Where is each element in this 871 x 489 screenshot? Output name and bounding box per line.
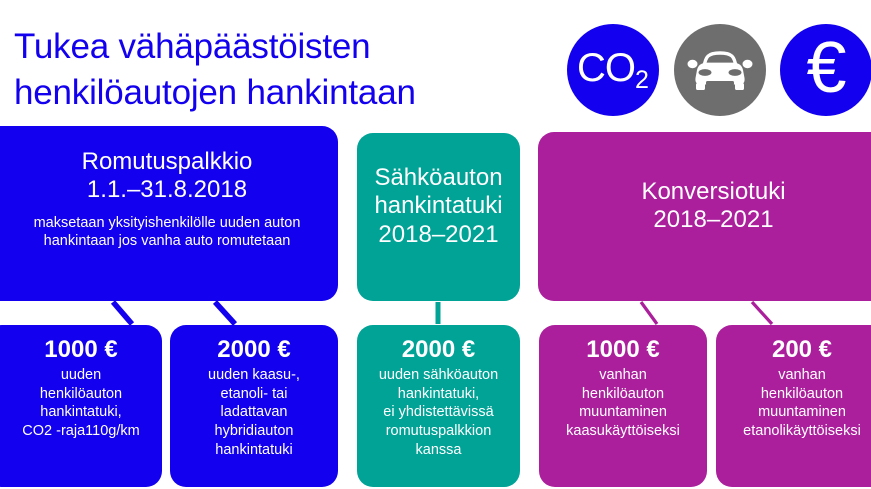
co2-icon-text: CO: [577, 46, 635, 90]
connector-konversio-to-1000: [641, 302, 657, 324]
program-card-romutuspalkkio[interactable]: Romutuspalkkio 1.1.–31.8.2018 maksetaan …: [0, 126, 338, 301]
benefit-detail: uuden kaasu-, etanoli- tai ladattavan hy…: [208, 366, 300, 459]
euro-icon: €: [780, 24, 871, 116]
program-card-konversiotuki[interactable]: Konversiotuki 2018–2021: [538, 132, 871, 301]
connector-romutus-to-1000: [113, 302, 132, 324]
benefit-detail: vanhan henkilöauton muuntaminen etanolik…: [743, 366, 861, 440]
program-headline: Konversiotuki 2018–2021: [641, 178, 785, 235]
infographic-canvas: Tukea vähäpäästöisten henkilöautojen han…: [0, 0, 871, 489]
co2-icon-label: CO2: [577, 48, 649, 93]
program-headline: Romutuspalkkio 1.1.–31.8.2018: [82, 148, 253, 205]
benefit-amount: 2000 €: [217, 337, 290, 363]
co2-icon: CO2: [567, 24, 659, 116]
benefit-amount: 1000 €: [586, 337, 659, 363]
euro-icon-label: €: [806, 32, 845, 104]
connector-romutus-to-2000: [215, 302, 235, 324]
benefit-card-2000-kaasu-etanoli-hybridi[interactable]: 2000 € uuden kaasu-, etanoli- tai ladatt…: [170, 325, 338, 487]
connector-konversio-to-200: [752, 302, 772, 324]
benefit-card-200-etanolikayttoiseksi[interactable]: 200 € vanhan henkilöauton muuntaminen et…: [716, 325, 871, 487]
program-card-sahkoauton-hankintatuki[interactable]: Sähköauton hankintatuki 2018–2021: [357, 133, 520, 301]
benefit-card-2000-sahkoauto[interactable]: 2000 € uuden sähköauton hankintatuki, ei…: [357, 325, 520, 487]
benefit-amount: 2000 €: [402, 337, 475, 363]
program-subtext: maksetaan yksityishenkilölle uuden auton…: [34, 214, 301, 252]
benefit-detail: vanhan henkilöauton muuntaminen kaasukäy…: [566, 366, 680, 440]
car-icon: [674, 24, 766, 116]
program-headline: Sähköauton hankintatuki 2018–2021: [374, 164, 502, 249]
benefit-card-1000-kaasukayttoiseksi[interactable]: 1000 € vanhan henkilöauton muuntaminen k…: [539, 325, 707, 487]
benefit-detail: uuden sähköauton hankintatuki, ei yhdist…: [379, 366, 498, 459]
co2-icon-subscript: 2: [635, 66, 649, 94]
page-title: Tukea vähäpäästöisten henkilöautojen han…: [14, 24, 554, 115]
benefit-card-1000-uusi-henkiloauto[interactable]: 1000 € uuden henkilöauton hankintatuki, …: [0, 325, 162, 487]
benefit-amount: 200 €: [772, 337, 832, 363]
car-front-glyph: [687, 48, 753, 92]
benefit-amount: 1000 €: [44, 337, 117, 363]
benefit-detail: uuden henkilöauton hankintatuki, CO2 -ra…: [22, 366, 139, 440]
